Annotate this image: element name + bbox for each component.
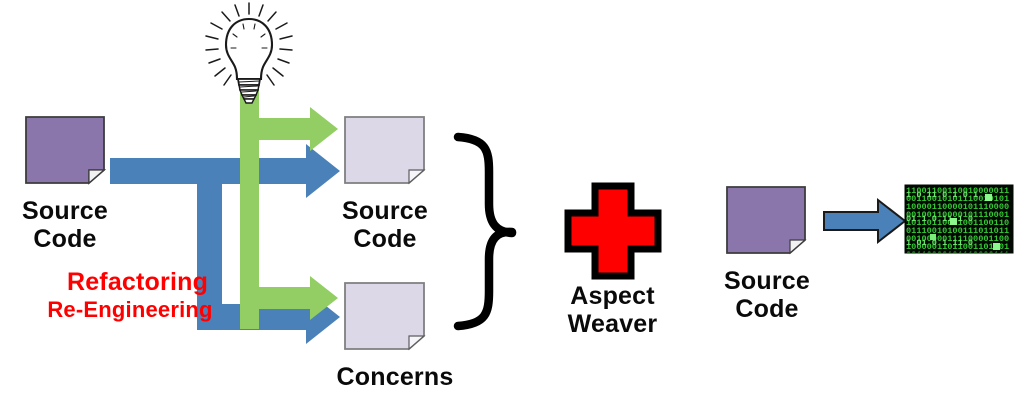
diagram-canvas: 11001100110010000011 0011001010111001010… [0, 0, 1028, 420]
document-page-purple-woven [727, 187, 805, 253]
diagram-vector-layer: 11001100110010000011 0011001010111001010… [0, 0, 1028, 420]
blue-right-arrow-compile [824, 200, 905, 242]
aspect-weaver-label-line2: Weaver [545, 310, 680, 338]
plus-cross-icon [568, 186, 658, 276]
input-document-label-line1: Source [10, 197, 120, 225]
woven-document-label-line2: Code [712, 295, 822, 323]
output-source-label-line2: Code [330, 225, 440, 253]
svg-text:01 1 0 11 1 0: 01 1 0 11 1 0 [906, 214, 973, 224]
output-concerns-document-label: Concerns [325, 363, 465, 391]
document-page-purple-input [26, 117, 104, 183]
aspect-weaver-label-line1: Aspect [545, 282, 680, 310]
svg-text:00110000101110000111: 00110000101110000111 [906, 250, 1009, 260]
process-annotation-line1: Refactoring [45, 268, 230, 296]
input-document-label: Source Code [10, 197, 120, 253]
process-annotation-line2: Re-Engineering [30, 298, 230, 323]
svg-text:1 01 0 1 11 0: 1 01 0 1 11 0 [906, 238, 973, 248]
right-curly-brace [458, 137, 512, 326]
input-document-label-line2: Code [10, 225, 120, 253]
woven-document-label-line1: Source [712, 267, 822, 295]
binary-matrix-image: 11001100110010000011 0011001010111001010… [905, 185, 1013, 260]
output-source-label-line1: Source [330, 197, 440, 225]
document-page-light-concerns [345, 283, 424, 349]
svg-text:1 0 11 0 1 0 1: 1 0 11 0 1 0 1 [906, 190, 978, 200]
output-source-document-label: Source Code [330, 197, 440, 253]
woven-document-label: Source Code [712, 267, 822, 323]
lightbulb-icon [206, 3, 292, 103]
green-forked-arrow [240, 84, 338, 329]
aspect-weaver-label: Aspect Weaver [545, 282, 680, 338]
document-page-light-source [345, 117, 424, 183]
